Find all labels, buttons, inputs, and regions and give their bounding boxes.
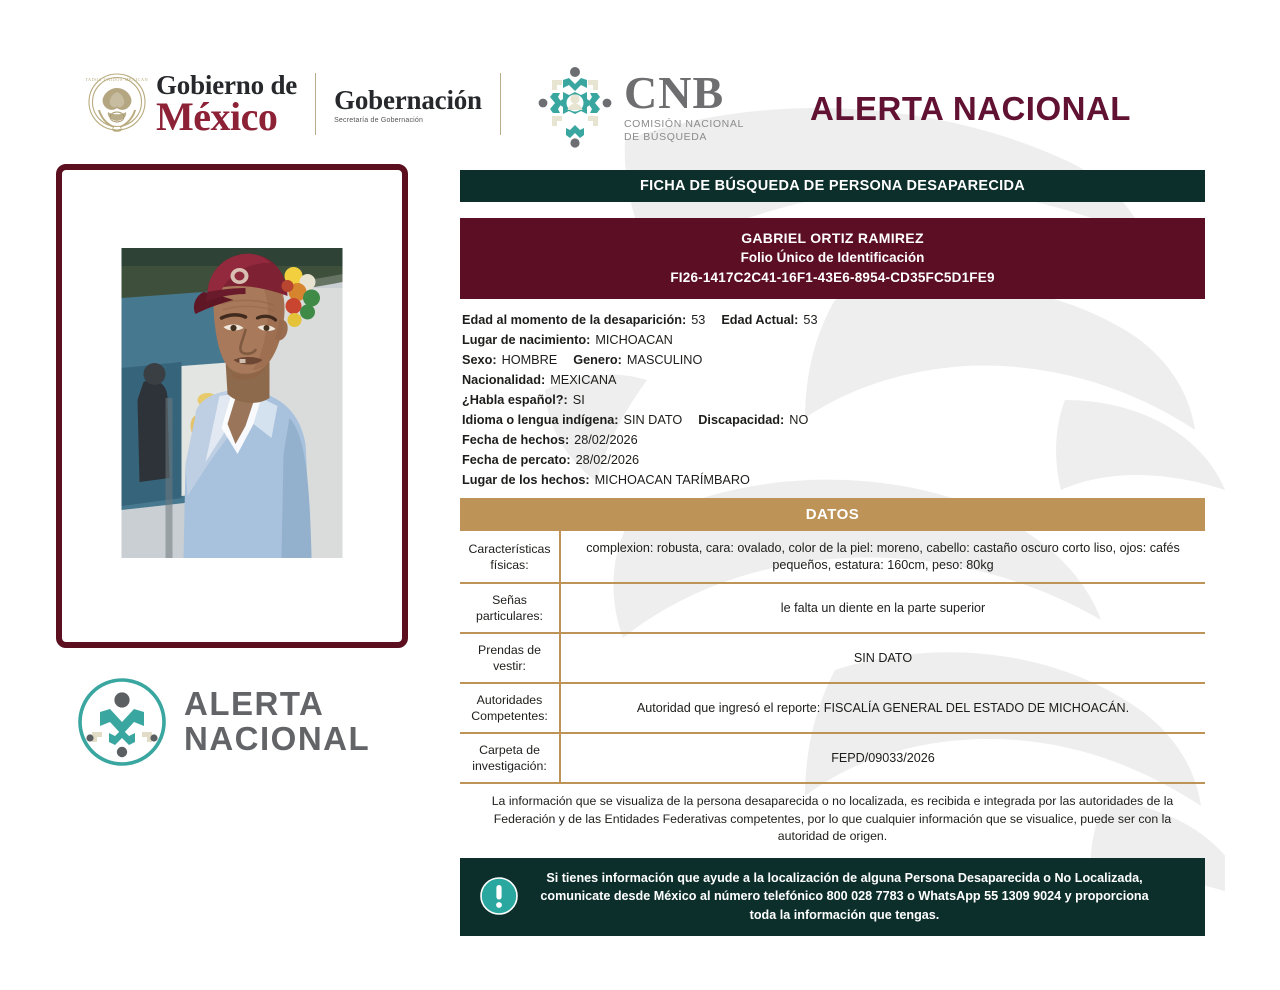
cnb-wordmark: CNB COMISIÓN NACIONAL DE BÚSQUEDA [624,70,744,144]
header-divider-2 [500,73,501,135]
gobernacion-wordmark: Gobernación Secretaría de Gobernación [334,85,482,124]
detail-row-sex: Sexo:HOMBREGenero:MASCULINO [462,350,1205,370]
alerta-logo-line1: ALERTA [184,687,370,722]
row-value: SIN DATO [561,634,1205,682]
detail-label: Edad al momento de la desaparición: [462,313,686,327]
gobierno-line2: México [156,97,297,137]
detail-label: Fecha de percato: [462,453,571,467]
row-value: Autoridad que ingresó el reporte: FISCAL… [561,684,1205,732]
detail-value-2: 53 [803,313,817,327]
detail-row-event-place: Lugar de los hechos:MICHOACAN TARÍMBARO [462,470,1205,490]
detail-row-language: Idioma o lengua indígena:SIN DATODiscapa… [462,410,1205,430]
detail-value: MICHOACAN [595,333,673,347]
detail-value: SI [573,393,585,407]
header-divider-1 [315,73,316,135]
alerta-nacional-heading: ALERTA NACIONAL [810,90,1131,128]
detail-label: Lugar de nacimiento: [462,333,590,347]
cnb-sub-line2: DE BÚSQUEDA [624,131,744,144]
detail-label-2: Discapacidad: [698,413,784,427]
detail-value-2: MASCULINO [627,353,702,367]
ficha-title-bar: FICHA DE BÚSQUEDA DE PERSONA DESAPARECID… [460,170,1205,202]
contact-message: Si tienes información que ayude a la loc… [530,869,1185,924]
detail-row-birthplace: Lugar de nacimiento:MICHOACAN [462,330,1205,350]
detail-label: Idioma o lengua indígena: [462,413,619,427]
row-value: FEPD/09033/2026 [561,734,1205,782]
gobierno-wordmark: Gobierno de México [156,72,297,137]
detail-row-spanish: ¿Habla español?:SI [462,390,1205,410]
gobernacion-title: Gobernación [334,85,482,116]
detail-label: Lugar de los hechos: [462,473,590,487]
detail-value: HOMBRE [502,353,558,367]
detail-value: MEXICANA [550,373,616,387]
row-value: complexion: robusta, cara: ovalado, colo… [561,531,1205,582]
detail-value: 28/02/2026 [576,453,640,467]
detail-label: Fecha de hechos: [462,433,569,447]
table-row: Prendas de vestir: SIN DATO [460,634,1205,684]
details-list: Edad al momento de la desaparición:53Eda… [460,310,1205,490]
photo-frame [56,164,408,648]
detail-label: Nacionalidad: [462,373,545,387]
table-row: Autoridades Competentes: Autoridad que i… [460,684,1205,734]
detail-label: Sexo: [462,353,497,367]
datos-header-bar: DATOS [460,498,1205,531]
row-label: Autoridades Competentes: [460,684,561,732]
detail-value: 28/02/2026 [574,433,638,447]
detail-value: SIN DATO [624,413,683,427]
alerta-nacional-badge-icon [76,676,168,768]
detail-value: 53 [691,313,705,327]
record-column: FICHA DE BÚSQUEDA DE PERSONA DESAPARECID… [460,170,1205,936]
exclamation-icon [468,876,530,916]
table-row: Señas particulares: le falta un diente e… [460,584,1205,634]
disclaimer-text: La información que se visualiza de la pe… [460,793,1205,845]
row-label: Prendas de vestir: [460,634,561,682]
detail-label-2: Genero: [573,353,622,367]
row-label: Carpeta de investigación: [460,734,561,782]
detail-label: ¿Habla español?: [462,393,568,407]
alert-sheet-page: ESTADOS UNIDOS MEXICANOS Gobierno de Méx… [0,0,1280,990]
table-row: Carpeta de investigación: FEPD/09033/202… [460,734,1205,784]
contact-banner: Si tienes información que ayude a la loc… [460,858,1205,936]
datos-table: Características físicas: complexion: rob… [460,531,1205,784]
detail-value-2: NO [789,413,808,427]
row-value: le falta un diente en la parte superior [561,584,1205,632]
detail-value: MICHOACAN TARÍMBARO [595,473,750,487]
cnb-sub-line1: COMISIÓN NACIONAL [624,118,744,131]
detail-row-nationality: Nacionalidad:MEXICANA [462,370,1205,390]
missing-person-photo [122,248,343,558]
detail-row-notice-date: Fecha de percato:28/02/2026 [462,450,1205,470]
detail-row-event-date: Fecha de hechos:28/02/2026 [462,430,1205,450]
folio-box: GABRIEL ORTIZ RAMIREZ Folio Único de Ide… [460,218,1205,299]
cnb-logo: CNB COMISIÓN NACIONAL DE BÚSQUEDA [536,62,744,152]
svg-text:ESTADOS UNIDOS MEXICANOS: ESTADOS UNIDOS MEXICANOS [86,77,148,82]
alerta-logo-line2: NACIONAL [184,722,370,757]
detail-label-2: Edad Actual: [721,313,798,327]
mexican-coat-of-arms-icon: ESTADOS UNIDOS MEXICANOS [86,70,148,138]
page-header: ESTADOS UNIDOS MEXICANOS Gobierno de Méx… [0,0,1225,158]
cnb-acronym: CNB [624,70,744,115]
row-label: Señas particulares: [460,584,561,632]
detail-row-age: Edad al momento de la desaparición:53Eda… [462,310,1205,330]
table-row: Características físicas: complexion: rob… [460,531,1205,584]
gobierno-de-mexico-logo: ESTADOS UNIDOS MEXICANOS Gobierno de Méx… [86,68,519,140]
folio-id: FI26-1417C2C41-16F1-43E6-8954-CD35FC5D1F… [460,268,1205,288]
row-label: Características físicas: [460,531,561,582]
cnb-pinwheel-icon [536,62,614,152]
person-name: GABRIEL ORTIZ RAMIREZ [460,228,1205,248]
folio-label: Folio Único de Identificación [460,248,1205,268]
alerta-nacional-logo: ALERTA NACIONAL [76,676,370,768]
gobernacion-subtitle: Secretaría de Gobernación [334,117,482,124]
